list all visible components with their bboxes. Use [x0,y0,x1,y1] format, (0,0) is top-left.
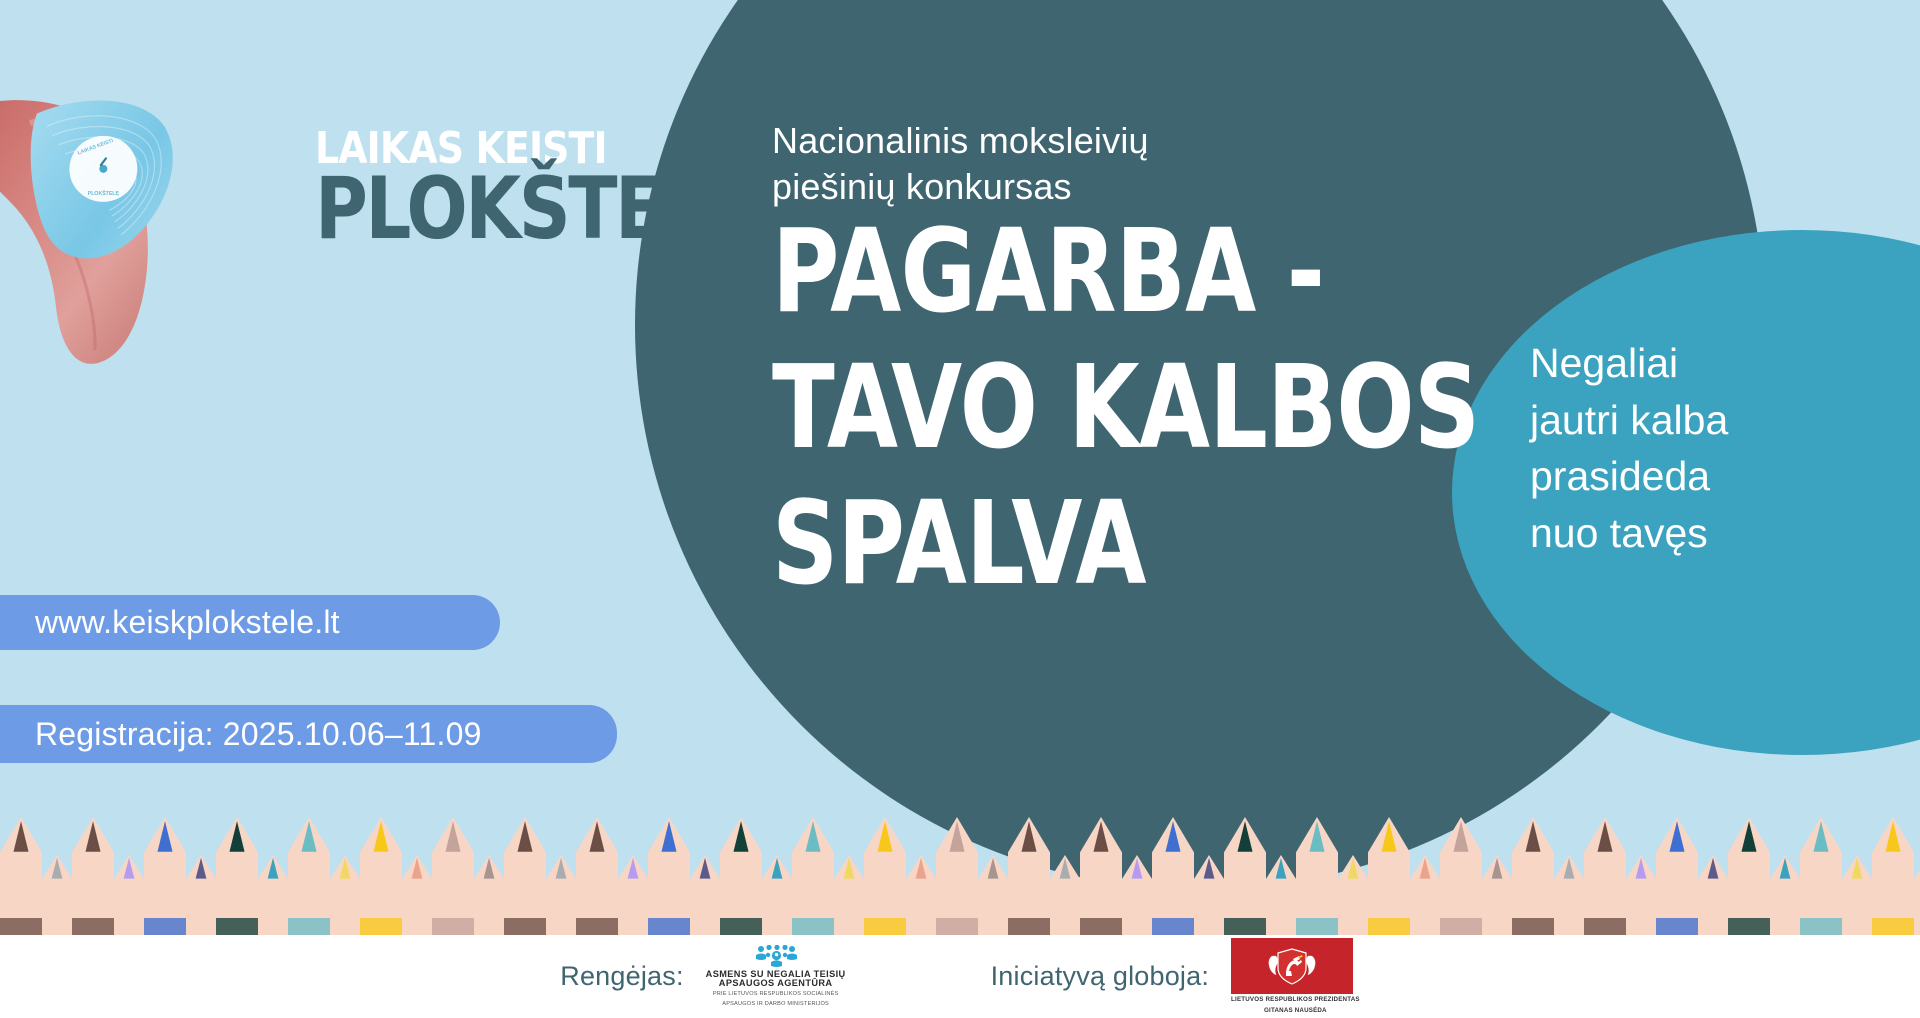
pencil [258,855,288,935]
slogan-line-4: nuo tavęs [1530,505,1870,562]
title-line-1: PAGARBA - [772,216,1284,330]
pencil [1770,855,1800,935]
title-line-2: TAVO KALBOS [772,352,1284,466]
agency-logo: ASMENS SU NEGALIA TEISIŲ APSAUGOS AGENTŪ… [706,945,846,1009]
pencil-band [864,918,906,935]
tongue-vinyl-artwork: LAIKAS KEISTI PLOKŠTELĘ [0,85,300,415]
website-pill[interactable]: www.keiskplokstele.lt [0,595,500,650]
patron-label: Iniciatyvą globoja: [991,961,1209,992]
agency-sub-line-2: APSAUGOS IR DARBO MINISTERIJOS [706,1001,846,1009]
pencil [1440,817,1482,935]
website-url-text: www.keiskplokstele.lt [35,604,340,641]
pencil [936,817,978,935]
organizer-label: Rengėjas: [560,961,683,992]
pencil [1656,817,1698,935]
pencil-band [1512,918,1554,935]
slogan-block: Negaliai jautri kalba prasideda nuo tavę… [1530,335,1870,561]
pencil-band [1584,918,1626,935]
pencil-band [1296,918,1338,935]
pencil-band [1224,918,1266,935]
pencil [330,855,360,935]
agency-name-line-2: APSAUGOS AGENTŪRA [706,979,846,988]
pencil [1050,855,1080,935]
slogan-line-1: Negaliai [1530,335,1870,392]
pencil-band [432,918,474,935]
lithuania-coat-of-arms-icon [1231,938,1353,994]
pencil-band [144,918,186,935]
pencil [1008,817,1050,935]
headline-block: Nacionalinis moksleivių piešinių konkurs… [772,118,1412,602]
pencil [0,817,42,935]
kicker-line-2: piešinių konkursas [772,164,1412,210]
pencil-band [1656,918,1698,935]
pencil [1800,817,1842,935]
pencil-band [1368,918,1410,935]
registration-dates-text: Registracija: 2025.10.06–11.09 [35,716,482,753]
pencil [864,817,906,935]
poster-canvas: LAIKAS KEISTI PLOKŠTELĘ LAIKAS KEISTI PL… [0,0,1920,1018]
pencil-band [1008,918,1050,935]
pencil [1194,855,1224,935]
svg-text:PLOKŠTELĘ: PLOKŠTELĘ [88,189,120,197]
pencil [1698,855,1728,935]
pencil [1368,817,1410,935]
president-caption-line-2: GITANAS NAUSĖDA [1231,1007,1360,1016]
pencil-band [1080,918,1122,935]
pencil [432,817,474,935]
pencil-band [720,918,762,935]
pencil [618,855,648,935]
pencil [186,855,216,935]
pencil [216,817,258,935]
pencil [360,817,402,935]
pencil [402,855,432,935]
pencil-band [792,918,834,935]
pencil [504,817,546,935]
pencil-band [1872,918,1914,935]
agency-people-icon [706,945,846,967]
pencil [474,855,504,935]
pencil [1842,855,1872,935]
pencil [792,817,834,935]
slogan-line-3: prasideda [1530,448,1870,505]
pencil [1914,855,1920,935]
slogan-line-2: jautri kalba [1530,392,1870,449]
pencil-band [360,918,402,935]
pencil-band [1800,918,1842,935]
pencil-border-decoration [0,815,1920,935]
pencil [720,817,762,935]
pencil [762,855,792,935]
pencil [1410,855,1440,935]
pencil [1728,817,1770,935]
title-line-3: SPALVA [772,488,1284,602]
pencil [1224,817,1266,935]
pencil-band [1440,918,1482,935]
pencil-band [1728,918,1770,935]
pencil [288,817,330,935]
pencil [42,855,72,935]
pencil [978,855,1008,935]
pencil [1584,817,1626,935]
campaign-logo: LAIKAS KEISTI PLOKŠTELĘ [315,128,645,247]
pencil [690,855,720,935]
pencil [1296,817,1338,935]
footer-bar: Rengėjas: [0,935,1920,1018]
pencil [144,817,186,935]
pencil [1626,855,1656,935]
pencil-band [648,918,690,935]
patron-group: Iniciatyvą globoja: [991,938,1360,1015]
pencil [1152,817,1194,935]
pencil-band [504,918,546,935]
pencil [906,855,936,935]
organizer-group: Rengėjas: [560,945,845,1009]
pencil-body [1914,855,1920,935]
pencil-band [936,918,978,935]
pencil-band [576,918,618,935]
pencil [576,817,618,935]
pencil [1554,855,1584,935]
pencil [1872,817,1914,935]
pencil [1482,855,1512,935]
pencil [1266,855,1296,935]
pencil-band [216,918,258,935]
pencil [648,817,690,935]
president-logo: LIETUVOS RESPUBLIKOS PREZIDENTAS GITANAS… [1231,938,1360,1015]
pencil [1512,817,1554,935]
pencil [72,817,114,935]
logo-line-2: PLOKŠTELĘ [315,172,592,248]
pencil-band [1152,918,1194,935]
kicker-line-1: Nacionalinis moksleivių [772,118,1412,164]
agency-sub-line-1: PRIE LIETUVOS RESPUBLIKOS SOCIALINĖS [706,991,846,999]
pencil [1338,855,1368,935]
president-caption-line-1: LIETUVOS RESPUBLIKOS PREZIDENTAS [1231,996,1360,1005]
registration-pill[interactable]: Registracija: 2025.10.06–11.09 [0,705,617,763]
pencil [834,855,864,935]
pencil [1080,817,1122,935]
pencil [114,855,144,935]
pencil-band [0,918,42,935]
pencil-band [288,918,330,935]
pencil-band [72,918,114,935]
pencil [546,855,576,935]
pencil [1122,855,1152,935]
